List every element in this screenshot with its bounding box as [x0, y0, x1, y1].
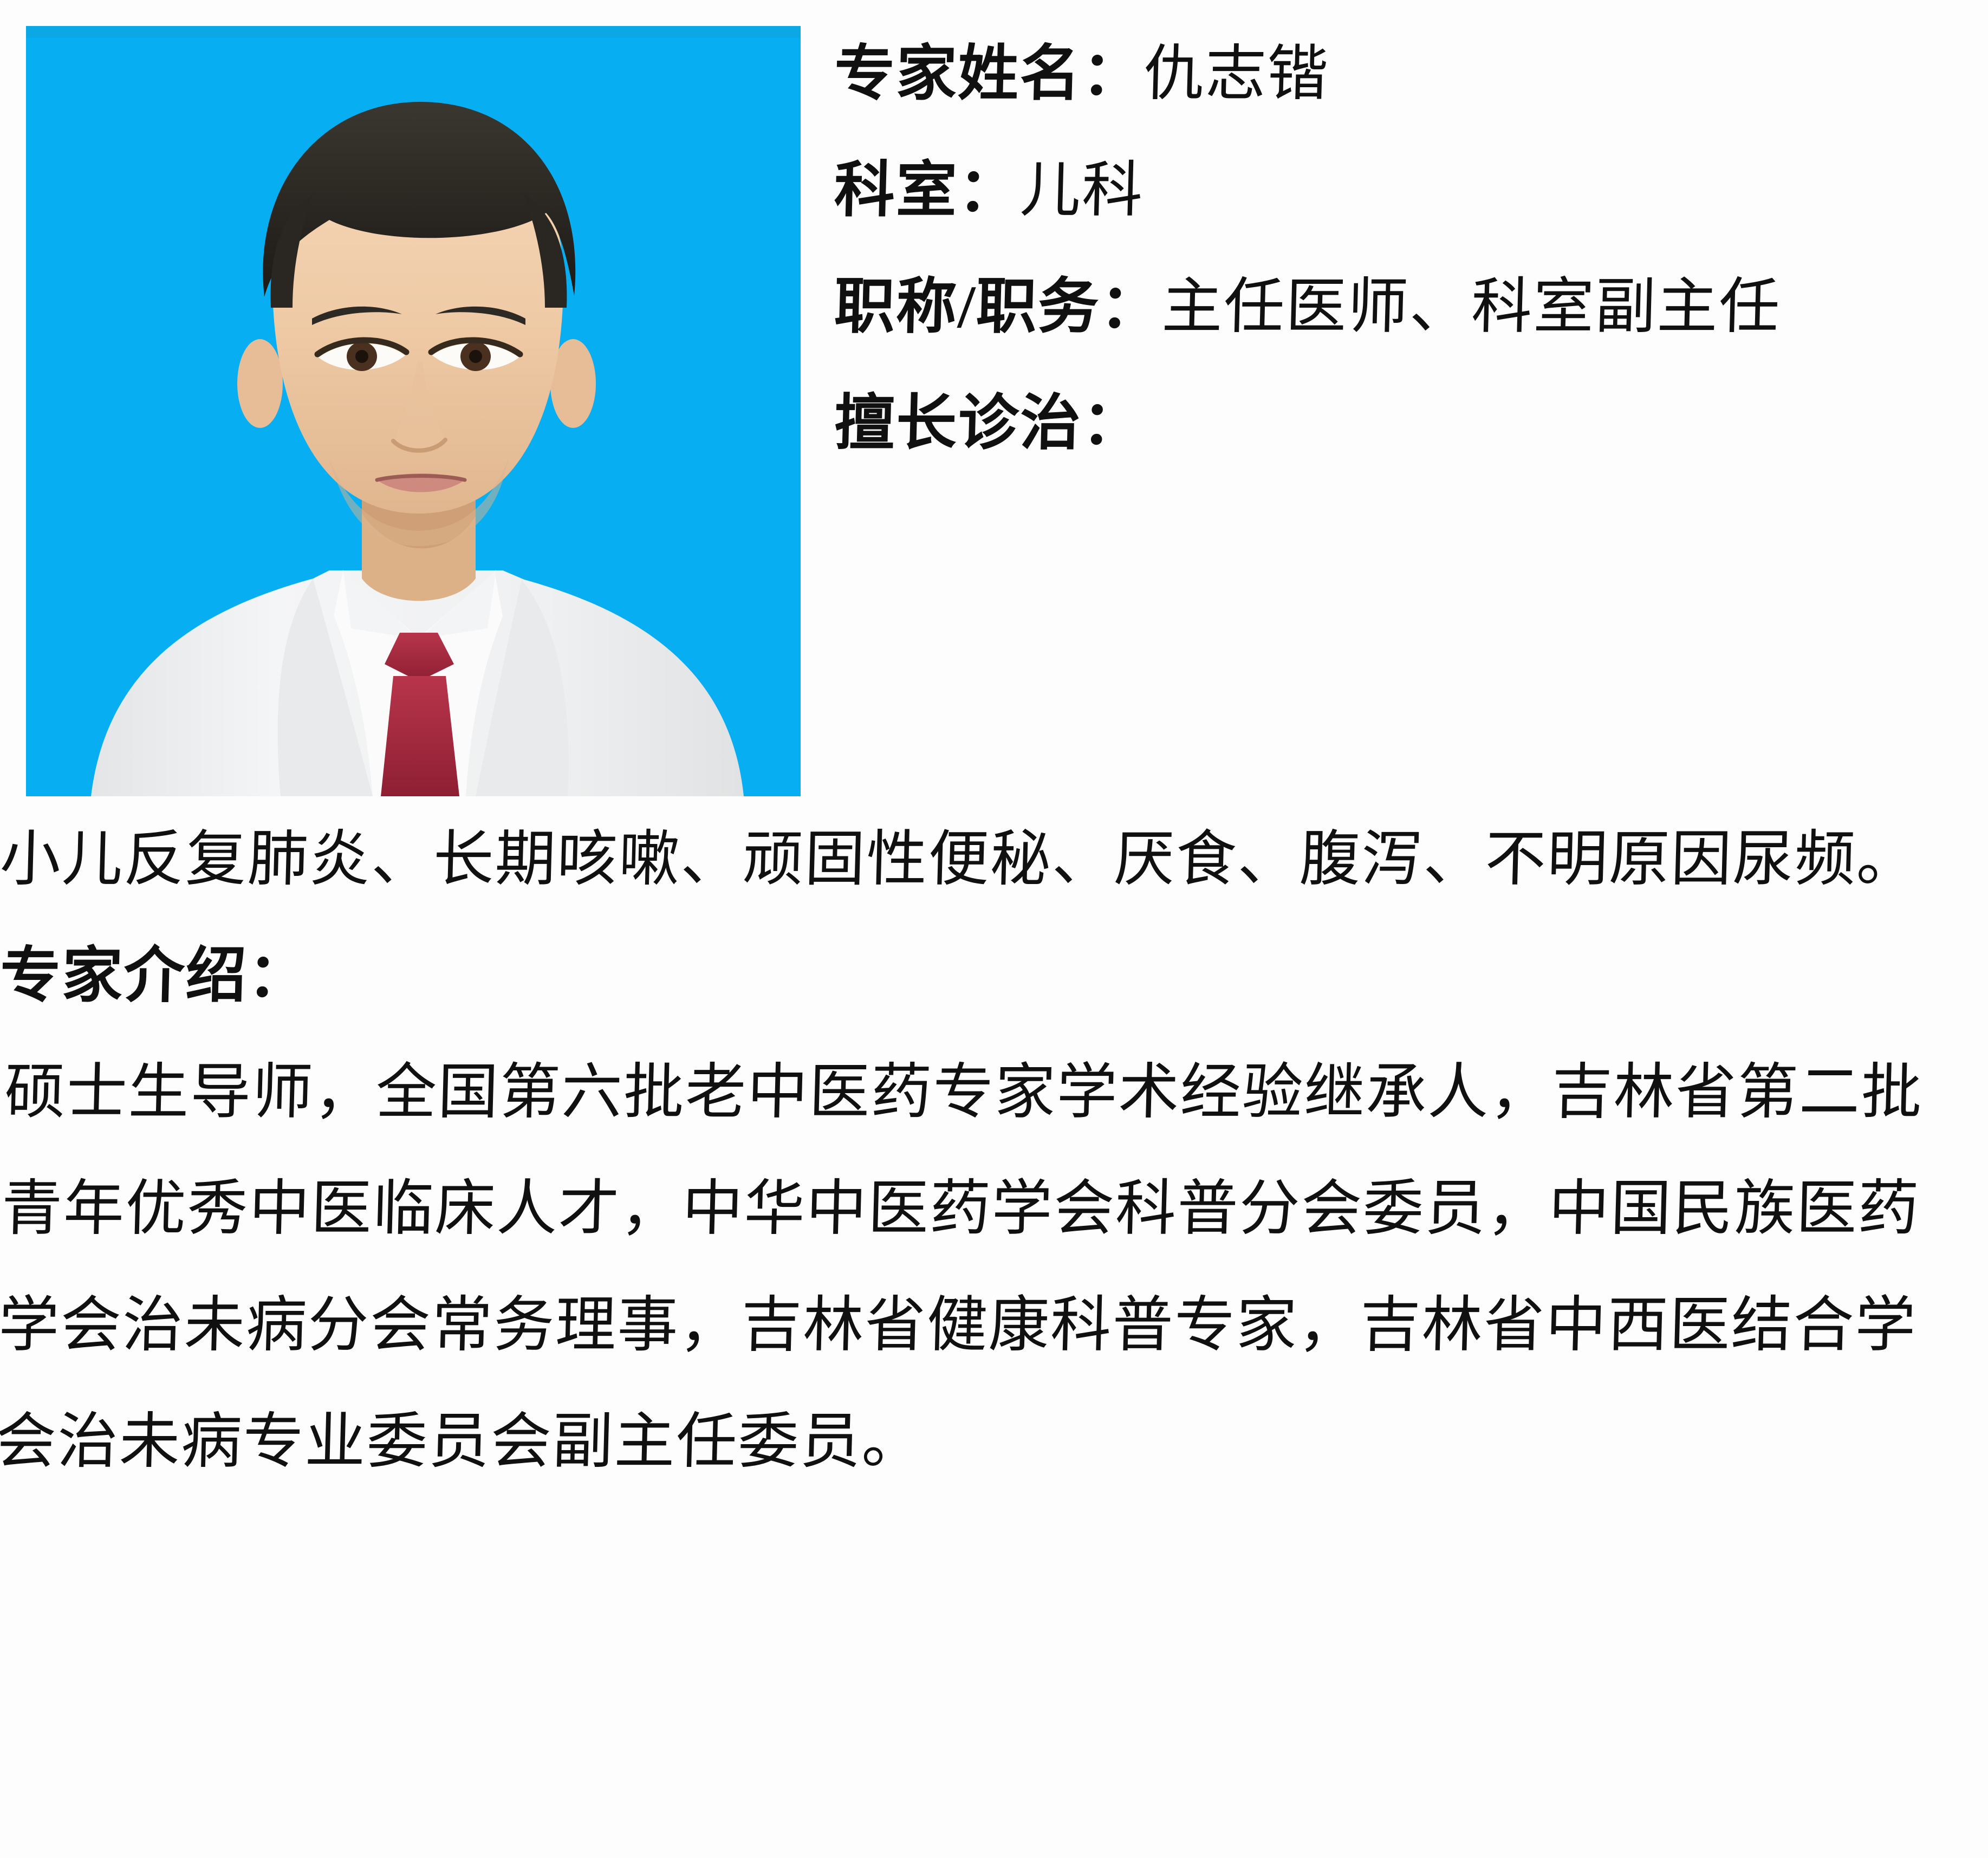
field-department-value: 儿科: [1018, 133, 1145, 249]
doctor-profile-card: 专家姓名：仇志锴 科室：儿科 职称/职务：主任医师、科室副主任 擅长诊治：小儿反…: [0, 0, 1988, 1858]
doctor-portrait-photo: [26, 26, 801, 796]
field-bio-value: 硕士生导师，全国第六批老中医药专家学术经验继承人，吉林省第二批青年优秀中医临床人…: [0, 1035, 1974, 1500]
field-name-value: 仇志锴: [1142, 16, 1330, 133]
field-department-label: 科室：: [833, 133, 1021, 249]
field-title-label: 职称/职务：: [833, 249, 1163, 366]
field-bio-label: 专家介绍：: [0, 918, 311, 1035]
portrait-illustration: [26, 26, 801, 796]
field-bio-row: 专家介绍：硕士生导师，全国第六批老中医药专家学术经验继承人，吉林省第二批青年优秀…: [0, 918, 1968, 1500]
field-title-value: 主任医师、科室副主任: [1160, 249, 1782, 366]
field-name-label: 专家姓名：: [833, 16, 1145, 133]
field-specialty-value: 小儿反复肺炎、长期咳嗽、顽固性便秘、厌食、腹泻、不明原因尿频。: [0, 802, 1920, 918]
field-specialty-label: 擅长诊治：: [833, 366, 1145, 482]
